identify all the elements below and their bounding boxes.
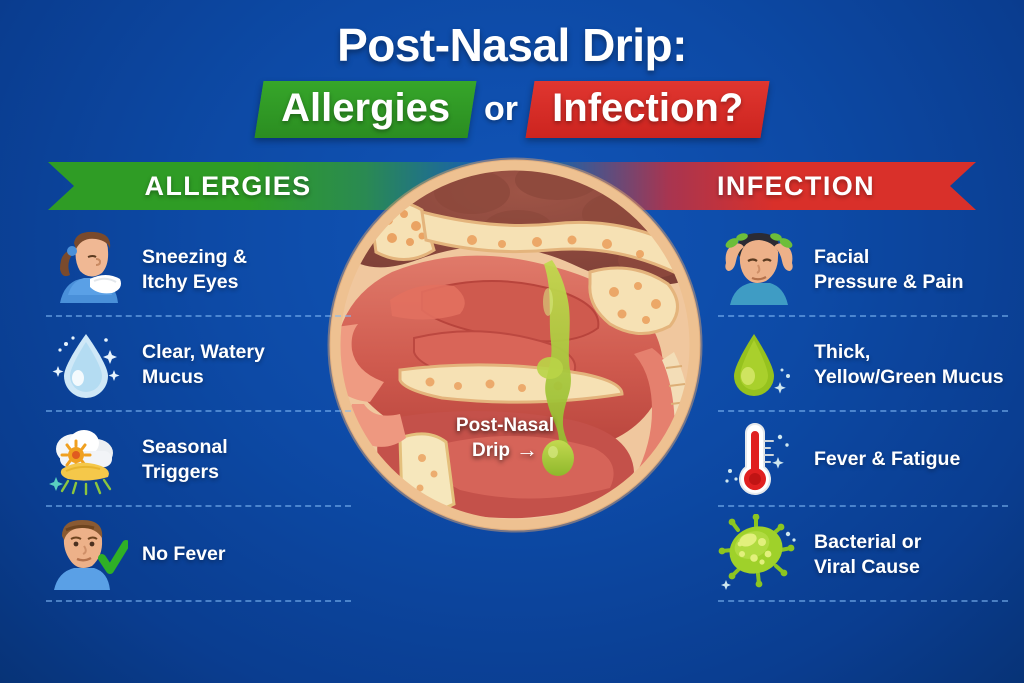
allergies-banner-label: ALLERGIES (144, 171, 311, 202)
nasal-cavity-svg (322, 152, 708, 538)
row-divider (46, 600, 351, 602)
allergies-highlight-label: Allergies (281, 86, 450, 131)
arrow-right-icon: → (516, 437, 538, 464)
allergy-item-label: Clear, Watery Mucus (142, 340, 265, 389)
label-line-2: Triggers (142, 460, 228, 485)
infection-item-thick-mucus: Thick, Yellow/Green Mucus (718, 317, 1024, 412)
yellow-green-droplet-icon (718, 324, 800, 406)
allergy-item-sneezing: Sneezing & Itchy Eyes (46, 222, 376, 317)
allergy-item-label: Seasonal Triggers (142, 435, 228, 484)
page-title: Post-Nasal Drip: (0, 18, 1024, 72)
label-line-1: Fever & Fatigue (814, 447, 960, 472)
woman-sneezing-tissue-icon (46, 229, 128, 311)
label-line-2: Mucus (142, 365, 265, 390)
infection-item-fever-fatigue: Fever & Fatigue (718, 412, 1024, 507)
label-line-1: Sneezing & (142, 245, 247, 270)
label-line-2: Pressure & Pain (814, 270, 964, 295)
infection-item-label: Fever & Fatigue (814, 447, 960, 472)
allergy-item-no-fever: No Fever (46, 507, 376, 602)
allergy-item-seasonal: Seasonal Triggers (46, 412, 376, 507)
subtitle-conjunction: or (484, 90, 518, 129)
label-line-1: Bacterial or (814, 530, 921, 555)
infection-item-bacterial-viral: Bacterial or Viral Cause (718, 507, 1024, 602)
allergy-item-label: No Fever (142, 542, 225, 567)
infection-highlight-label: Infection? (552, 86, 743, 131)
label-line-1: No Fever (142, 542, 225, 567)
infection-column: Facial Pressure & Pain Thick, Yellow/Gre… (718, 222, 1024, 602)
allergy-item-label: Sneezing & Itchy Eyes (142, 245, 247, 294)
title-block: Post-Nasal Drip: Allergies or Infection? (0, 18, 1024, 138)
person-headache-icon (718, 229, 800, 311)
label-line-2: Viral Cause (814, 555, 921, 580)
allergies-highlight-badge: Allergies (254, 81, 476, 138)
callout-line-1: Post-Nasal (430, 414, 580, 437)
post-nasal-drip-callout: Post-Nasal Drip → (430, 414, 580, 464)
label-line-1: Facial (814, 245, 964, 270)
cloud-sun-pollen-icon (46, 419, 128, 501)
callout-line-2-row: Drip → (430, 437, 580, 464)
infection-item-label: Thick, Yellow/Green Mucus (814, 340, 1004, 389)
thermometer-icon (718, 419, 800, 501)
callout-line-2: Drip (472, 439, 510, 462)
bacteria-germ-icon (718, 514, 800, 596)
allergy-item-clear-mucus: Clear, Watery Mucus (46, 317, 376, 412)
infection-item-facial-pressure: Facial Pressure & Pain (718, 222, 1024, 317)
allergies-column: Sneezing & Itchy Eyes Clear, Watery (46, 222, 376, 602)
infection-item-label: Facial Pressure & Pain (814, 245, 964, 294)
infection-highlight-badge: Infection? (525, 81, 769, 138)
label-line-1: Seasonal (142, 435, 228, 460)
infection-item-label: Bacterial or Viral Cause (814, 530, 921, 579)
label-line-2: Itchy Eyes (142, 270, 247, 295)
subtitle-row: Allergies or Infection? (0, 81, 1024, 138)
clear-water-droplet-icon (46, 324, 128, 406)
nasal-cavity-diagram (322, 152, 708, 538)
row-divider (718, 600, 1008, 602)
label-line-2: Yellow/Green Mucus (814, 365, 1004, 390)
label-line-1: Thick, (814, 340, 1004, 365)
face-green-check-icon (46, 514, 128, 596)
label-line-1: Clear, Watery (142, 340, 265, 365)
infection-banner-label: INFECTION (717, 171, 875, 202)
